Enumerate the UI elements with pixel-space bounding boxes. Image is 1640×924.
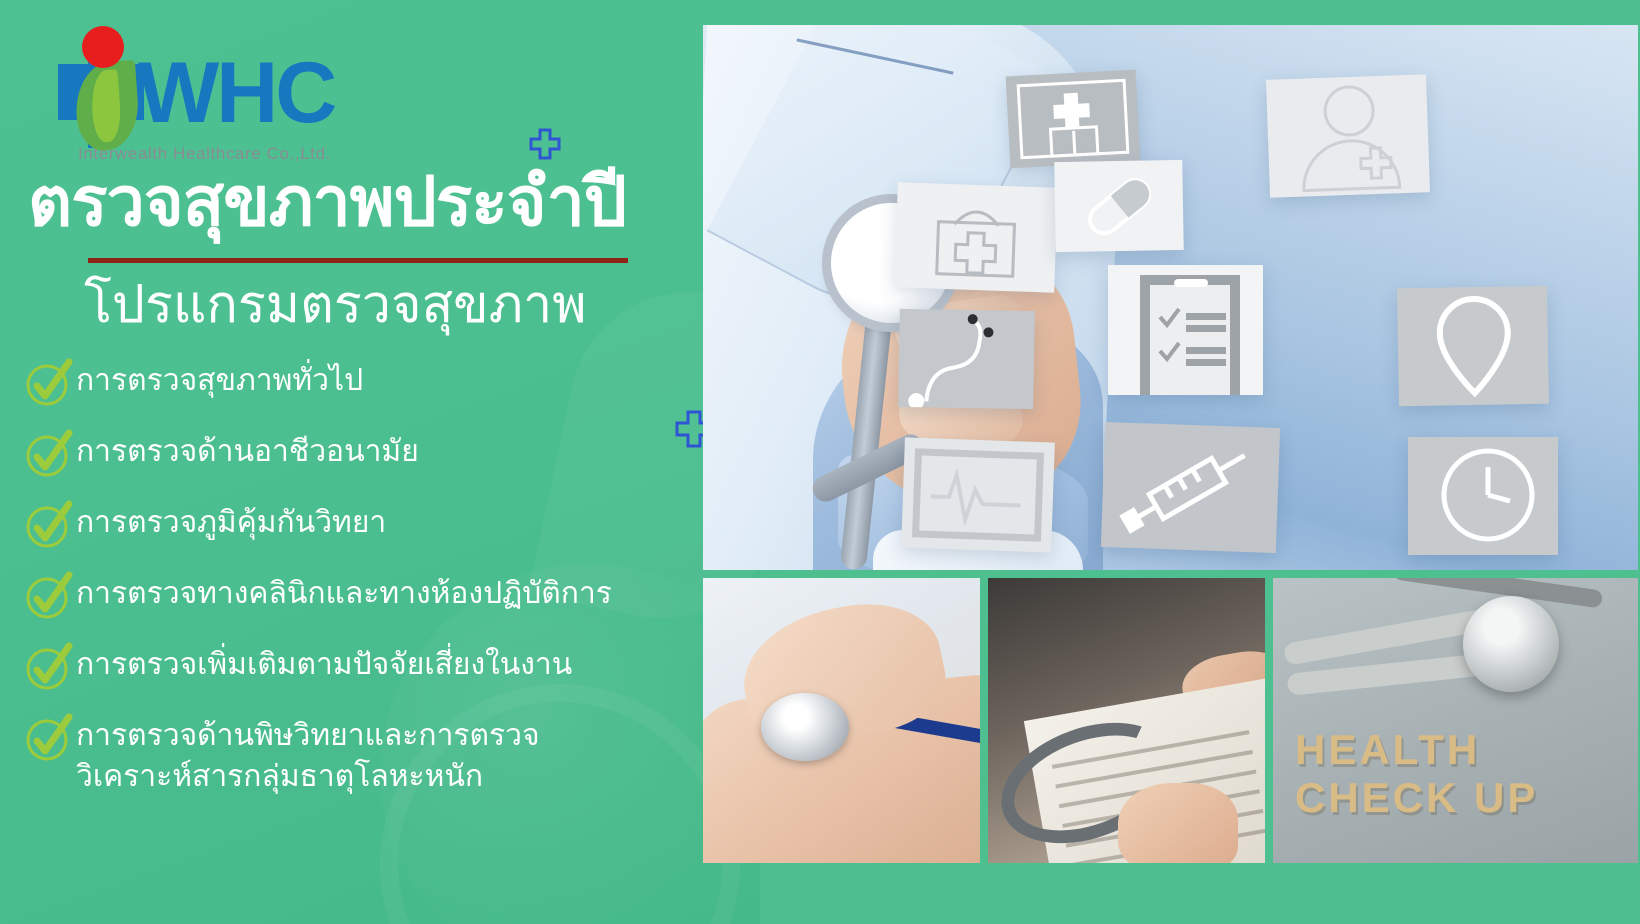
health-check-up-letters-photo: HEALTH CHECK UP — [1273, 578, 1638, 863]
first-aid-kit-icon — [894, 182, 1058, 293]
deco-cross-top-icon — [528, 128, 562, 162]
checklist: การตรวจสุขภาพทั่วไป การตรวจด้านอาชีวอนาม… — [22, 358, 742, 801]
head-dot-icon — [82, 26, 124, 68]
list-item: การตรวจด้านอาชีวอนามัย — [22, 429, 742, 479]
hospital-building-icon — [1006, 70, 1141, 169]
company-logo[interactable]: WHC Interwealth Healthcare Co.,Ltd. — [52, 22, 382, 167]
clock-24h-icon — [1408, 437, 1558, 555]
ecg-monitor-icon — [901, 437, 1055, 552]
list-item-label: การตรวจด้านอาชีวอนามัย — [76, 429, 419, 472]
list-item-label-line1: การตรวจด้านพิษวิทยาและการตรวจ — [76, 715, 540, 756]
list-item-label: การตรวจทางคลินิกและทางห้องปฏิบัติการ — [76, 571, 612, 614]
check-circle-icon — [22, 571, 76, 621]
list-item-label-line2: วิเคราะห์สารกลุ่มธาตุโลหะหนัก — [76, 756, 540, 797]
clipboard-checklist-icon — [1108, 265, 1263, 395]
page-title: ตรวจสุขภาพประจำปี — [28, 162, 728, 244]
list-item: การตรวจภูมิคุ้มกันวิทยา — [22, 500, 742, 550]
list-item: การตรวจสุขภาพทั่วไป — [22, 358, 742, 408]
list-item-label: การตรวจภูมิคุ้มกันวิทยา — [76, 500, 386, 543]
list-item: การตรวจด้านพิษวิทยาและการตรวจ วิเคราะห์ส… — [22, 713, 742, 797]
list-item-label-multiline: การตรวจด้านพิษวิทยาและการตรวจ วิเคราะห์ส… — [76, 713, 540, 797]
list-item-label: การตรวจเพิ่มเติมตามปัจจัยเสี่ยงในงาน — [76, 642, 572, 685]
syringe-icon — [1101, 422, 1280, 553]
list-item: การตรวจทางคลินิกและทางห้องปฏิบัติการ — [22, 571, 742, 621]
logo-wordmark: WHC — [138, 50, 334, 136]
check-circle-icon — [22, 500, 76, 550]
doctor-person-icon — [1266, 74, 1430, 198]
check-circle-icon — [22, 642, 76, 692]
health-checkup-banner: WHC Interwealth Healthcare Co.,Ltd. ตรวจ… — [0, 0, 1640, 924]
page-subtitle: โปรแกรมตรวจสุขภาพ — [84, 272, 744, 338]
list-item-label: การตรวจสุขภาพทั่วไป — [76, 358, 363, 401]
health-word-line2: CHECK UP — [1295, 774, 1538, 822]
check-circle-icon — [22, 713, 76, 763]
doctor-writing-form-photo — [988, 578, 1265, 863]
check-circle-icon — [22, 358, 76, 408]
stethoscope-on-arm-photo — [703, 578, 980, 863]
stethoscope-chestpiece — [1463, 596, 1559, 692]
list-item: การตรวจเพิ่มเติมตามปัจจัยเสี่ยงในงาน — [22, 642, 742, 692]
check-circle-icon — [22, 429, 76, 479]
location-pin-icon — [1397, 286, 1549, 407]
pill-capsule-icon — [1054, 160, 1184, 252]
doctor-hand — [1118, 783, 1238, 863]
title-divider — [88, 258, 628, 263]
doctor-holding-stethoscope-photo — [703, 25, 1638, 570]
health-word-line1: HEALTH — [1295, 726, 1480, 774]
stethoscope-icon — [898, 309, 1035, 409]
stethoscope-chestpiece — [761, 693, 849, 761]
